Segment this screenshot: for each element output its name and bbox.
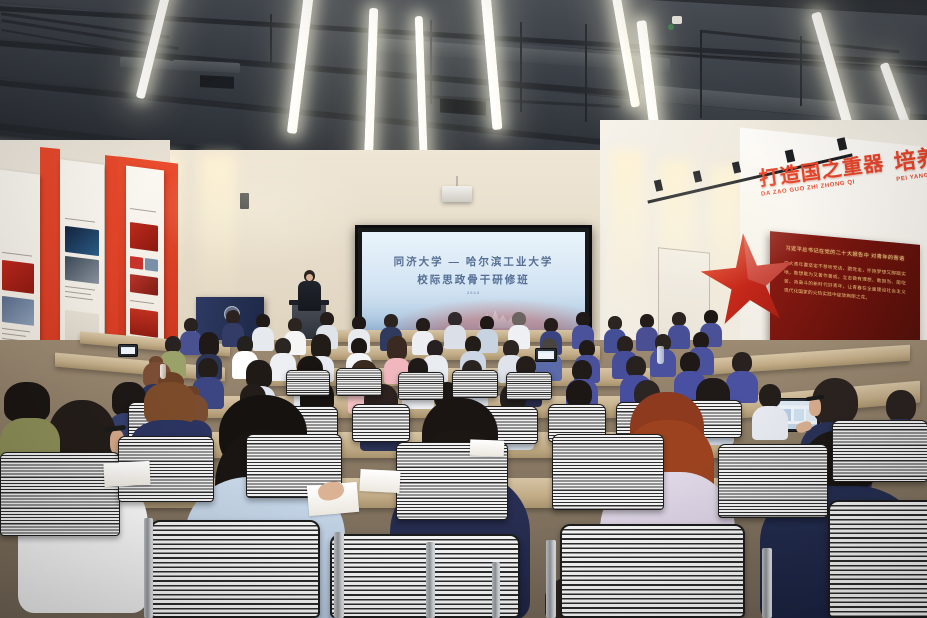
ceiling-projector	[442, 186, 472, 202]
chair[interactable]	[560, 524, 745, 618]
water-bottle[interactable]	[160, 364, 166, 379]
chair[interactable]	[552, 434, 664, 510]
slide-subtitle: 2024	[362, 290, 585, 295]
chair[interactable]	[150, 520, 320, 618]
notebook[interactable]	[470, 439, 505, 456]
chair-leg	[492, 562, 500, 618]
chair-leg	[144, 518, 153, 618]
chair[interactable]	[832, 420, 927, 482]
chair[interactable]	[286, 370, 330, 396]
ceiling-sensor	[672, 16, 682, 24]
chair-leg	[334, 532, 344, 618]
chair-leg	[546, 540, 556, 618]
chair-leg	[426, 542, 435, 618]
chair-leg	[762, 548, 772, 618]
chair[interactable]	[452, 370, 498, 398]
wall-speaker	[240, 193, 249, 209]
chair[interactable]	[0, 452, 120, 536]
notebook[interactable]	[359, 469, 400, 493]
notebook[interactable]	[103, 461, 150, 487]
water-bottle[interactable]	[657, 346, 664, 364]
chair[interactable]	[398, 372, 444, 400]
chair[interactable]	[506, 372, 552, 400]
conference-room-photo: 打造国之重器 DA ZAO GUO ZHI ZHONG QI 培养杰出人才 PE…	[0, 0, 927, 618]
chair[interactable]	[828, 500, 927, 618]
chair[interactable]	[718, 444, 828, 518]
plaque-body: 广大青年要坚定不移听党话、跟党走，怀抱梦想又脚踏实地，敢想敢为又善作善成，立志做…	[784, 259, 906, 306]
slide-title-line-2: 校际思政骨干研修班	[362, 272, 585, 287]
chair[interactable]	[336, 368, 382, 396]
ceiling-sensor-led	[668, 24, 674, 30]
laptop[interactable]	[118, 344, 138, 357]
slide-title-line-1: 同济大学 — 哈尔滨工业大学	[362, 254, 585, 269]
